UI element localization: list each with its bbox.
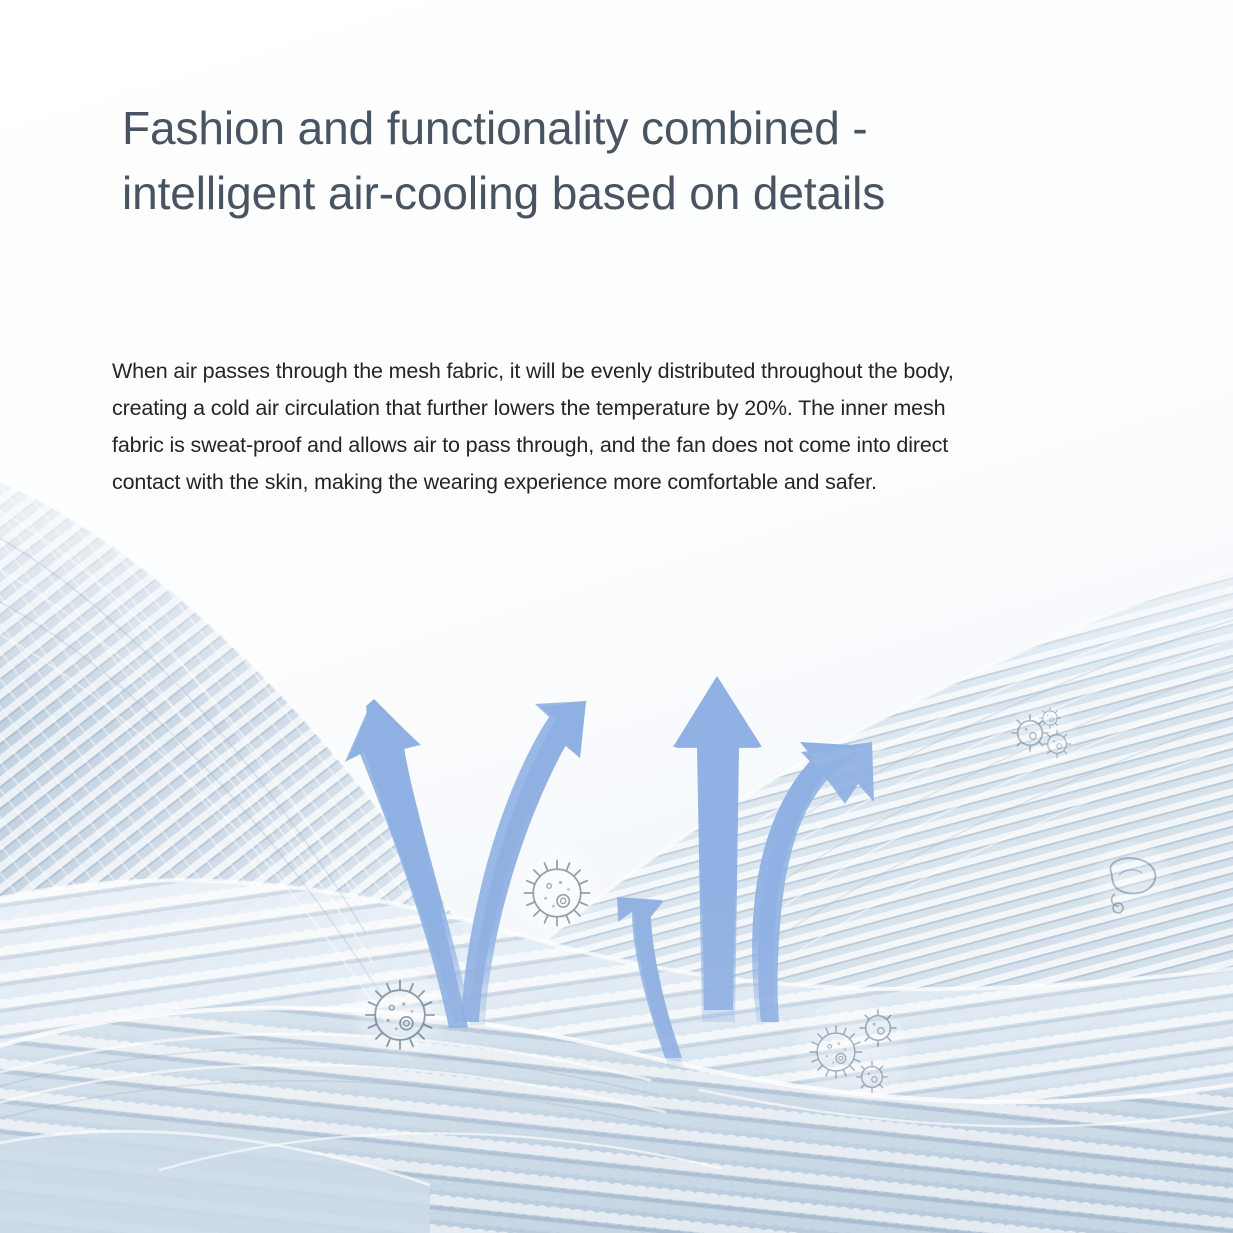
airflow-arrow-3 [673, 676, 762, 1022]
airflow-arrow-group [0, 0, 1233, 1233]
airflow-arrow-5 [617, 897, 683, 1066]
airflow-arrow-2 [462, 701, 586, 1025]
airflow-arrow-1 [345, 699, 472, 1028]
airflow-arrow-4 [752, 742, 874, 1022]
product-feature-image: Fashion and functionality combined - int… [0, 0, 1233, 1233]
